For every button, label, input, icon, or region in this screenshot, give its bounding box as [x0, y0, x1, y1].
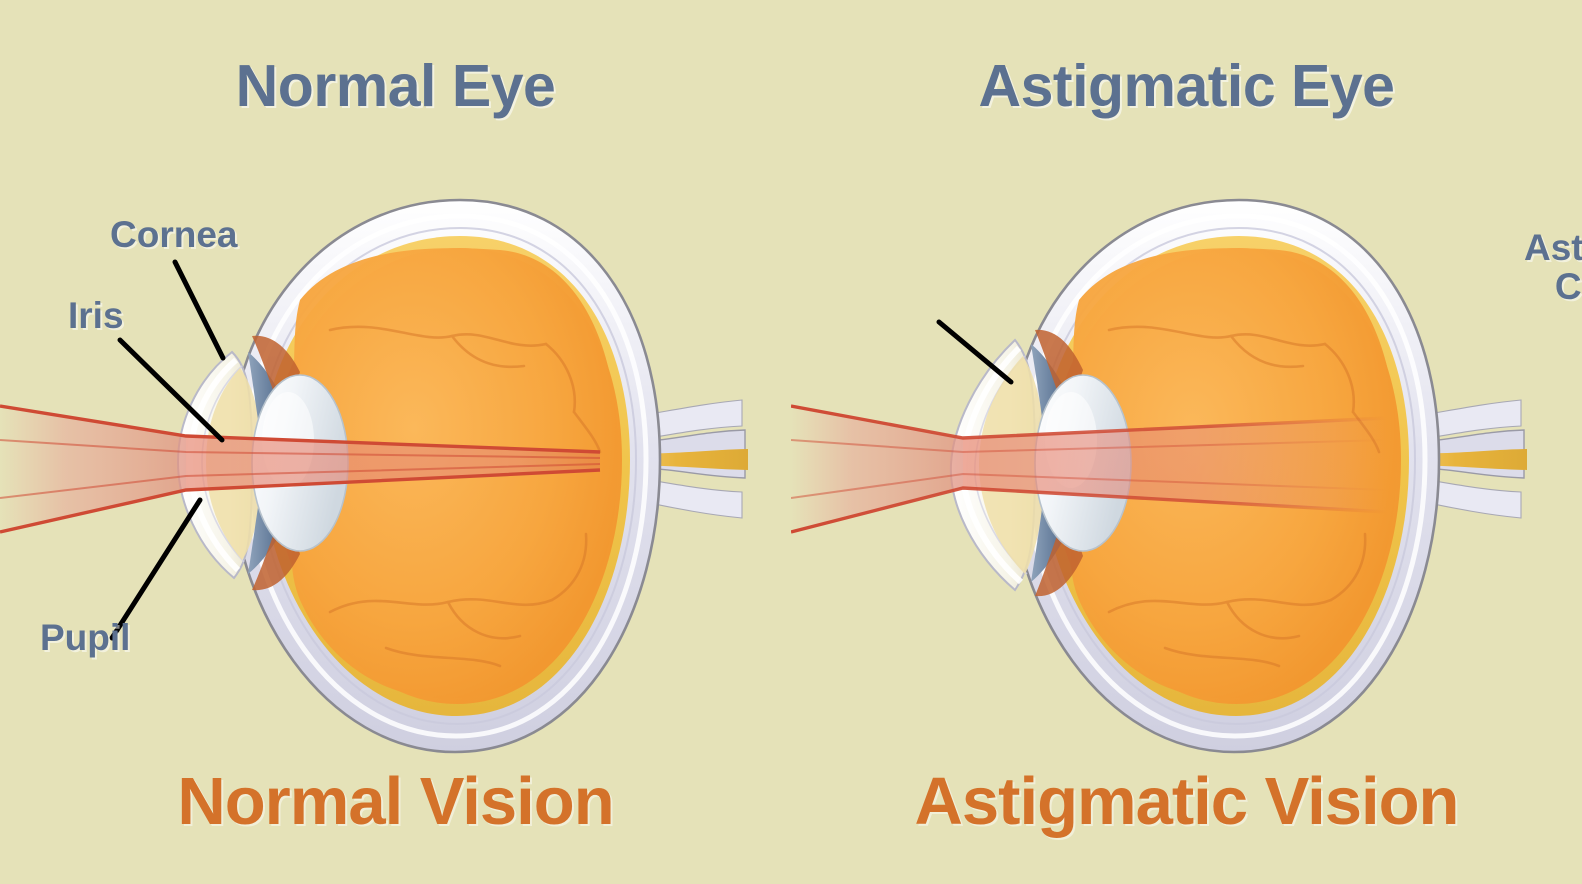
label-astigmatic-cornea: Astigmatic Cornea [1524, 228, 1582, 306]
diagram-stage: Normal Eye [0, 0, 1582, 884]
panel-astigmatic-eye: Astigmatic Eye [791, 0, 1582, 884]
panel-normal-eye: Normal Eye [0, 0, 791, 884]
caption-normal-vision: Normal Vision [0, 763, 791, 840]
leader-lines [939, 322, 1011, 382]
label-cornea: Cornea [110, 215, 237, 254]
caption-astigmatic-vision: Astigmatic Vision [791, 763, 1582, 840]
leader-line-cornea [175, 262, 223, 358]
label-astigmatic-cornea-line2: Cornea [1524, 267, 1582, 306]
label-pupil: Pupil [40, 618, 130, 657]
normal-eye-illustration [0, 0, 791, 884]
leader-line-astigmatic-cornea [939, 322, 1011, 382]
astigmatic-eye-illustration [791, 0, 1582, 884]
label-astigmatic-cornea-line1: Astigmatic [1524, 228, 1582, 267]
label-iris: Iris [68, 296, 124, 335]
